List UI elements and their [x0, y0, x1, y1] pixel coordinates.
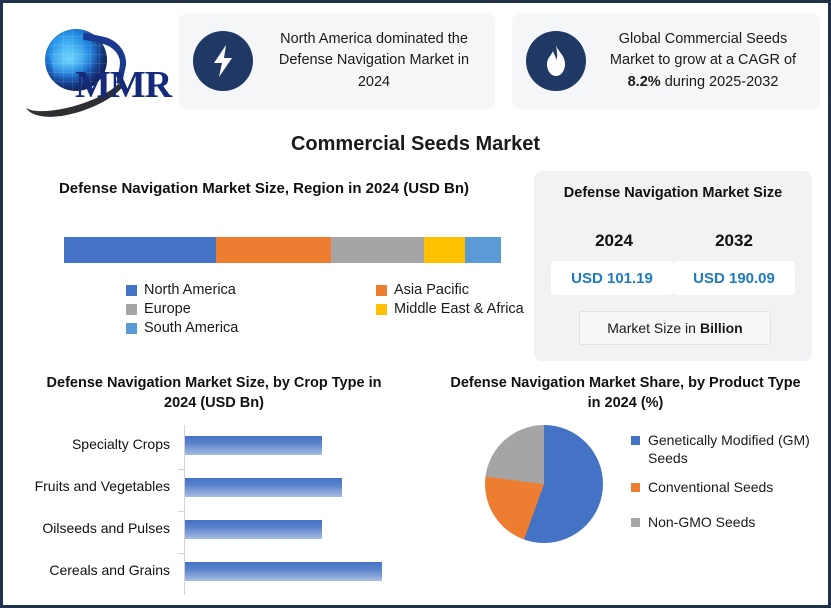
- page-title: Commercial Seeds Market: [3, 133, 828, 156]
- crop-bar: [185, 520, 322, 539]
- market-size-unit-value: Billion: [700, 320, 743, 336]
- crop-type-plot: Specialty CropsFruits and VegetablesOils…: [7, 425, 421, 603]
- market-value-2032: USD 190.09: [673, 261, 795, 295]
- legend-swatch-icon: [631, 483, 640, 492]
- region-legend-label: North America: [144, 282, 236, 298]
- region-stacked-bar: [64, 237, 501, 263]
- market-size-title: Defense Navigation Market Size: [534, 184, 812, 204]
- crop-category-label: Specialty Crops: [72, 436, 170, 452]
- infographic-frame: MMR North America dominated the Defense …: [0, 0, 831, 608]
- product-type-chart-title: Defense Navigation Market Share, by Prod…: [423, 369, 828, 414]
- region-legend-label: Europe: [144, 301, 191, 317]
- region-legend-label: South America: [144, 320, 238, 336]
- market-value-2024: USD 101.19: [551, 261, 673, 295]
- product-legend-item: Non-GMO Seeds: [631, 513, 827, 531]
- crop-bar-row: Oilseeds and Pulses: [7, 511, 421, 553]
- region-segment-europe: [331, 237, 424, 263]
- product-legend-label: Conventional Seeds: [648, 478, 773, 496]
- crop-type-chart: Defense Navigation Market Size, by Crop …: [7, 369, 421, 605]
- legend-swatch-icon: [631, 436, 640, 445]
- mmr-logo: MMR: [15, 19, 167, 111]
- year-label-2024: 2024: [554, 231, 674, 251]
- crop-bar-row: Cereals and Grains: [7, 553, 421, 595]
- region-legend-item: South America: [126, 320, 376, 336]
- crop-bar: [185, 562, 382, 581]
- product-legend-label: Non-GMO Seeds: [648, 513, 755, 531]
- lightning-bolt-icon: [193, 31, 253, 91]
- crop-bar: [185, 478, 342, 497]
- market-size-unit-note: Market Size inBillion: [579, 311, 771, 345]
- brand-name: MMR: [75, 63, 171, 107]
- region-chart-title: Defense Navigation Market Size, Region i…: [49, 179, 479, 199]
- region-legend-label: Middle East & Africa: [394, 301, 524, 317]
- market-size-unit-prefix: Market Size in: [607, 320, 696, 336]
- crop-bar-row: Specialty Crops: [7, 427, 421, 469]
- region-chart: Defense Navigation Market Size, Region i…: [43, 179, 523, 199]
- product-type-chart: Defense Navigation Market Share, by Prod…: [423, 369, 828, 605]
- crop-category-label: Fruits and Vegetables: [35, 478, 170, 494]
- region-segment-north-america: [64, 237, 216, 263]
- badge-north-america-text: North America dominated the Defense Navi…: [265, 29, 495, 92]
- product-type-pie: [485, 425, 603, 543]
- legend-swatch-icon: [631, 518, 640, 527]
- crop-bar-row: Fruits and Vegetables: [7, 469, 421, 511]
- product-legend-item: Conventional Seeds: [631, 478, 827, 496]
- market-size-panel: Defense Navigation Market Size 2024 2032…: [534, 171, 812, 361]
- crop-category-label: Cereals and Grains: [49, 562, 170, 578]
- region-segment-asia-pacific: [216, 237, 331, 263]
- region-segment-south-america: [465, 237, 501, 263]
- crop-category-label: Oilseeds and Pulses: [42, 520, 170, 536]
- year-label-2032: 2032: [674, 231, 794, 251]
- badge-cagr-text-before: Global Commercial Seeds Market to grow a…: [610, 31, 796, 68]
- legend-swatch-icon: [126, 304, 137, 315]
- crop-type-chart-title: Defense Navigation Market Size, by Crop …: [7, 369, 421, 414]
- legend-swatch-icon: [376, 285, 387, 296]
- region-segment-middle-east-africa: [424, 237, 465, 263]
- crop-bar: [185, 436, 322, 455]
- region-legend-item: North America: [126, 282, 376, 298]
- product-legend-item: Genetically Modified (GM) Seeds: [631, 431, 827, 467]
- badge-cagr: Global Commercial Seeds Market to grow a…: [512, 13, 820, 109]
- legend-swatch-icon: [376, 304, 387, 315]
- region-legend-item: Europe: [126, 301, 376, 317]
- product-legend-label: Genetically Modified (GM) Seeds: [648, 431, 827, 467]
- badge-north-america: North America dominated the Defense Navi…: [179, 13, 495, 109]
- badge-cagr-highlight: 8.2%: [628, 74, 661, 90]
- legend-swatch-icon: [126, 323, 137, 334]
- badge-cagr-text: Global Commercial Seeds Market to grow a…: [598, 29, 820, 92]
- region-legend: North AmericaAsia PacificEuropeMiddle Ea…: [126, 282, 546, 336]
- flame-icon: [526, 31, 586, 91]
- region-legend-label: Asia Pacific: [394, 282, 469, 298]
- header: MMR North America dominated the Defense …: [3, 3, 828, 121]
- badge-cagr-text-after: during 2025-2032: [661, 74, 779, 90]
- product-type-legend: Genetically Modified (GM) SeedsConventio…: [631, 431, 827, 542]
- legend-swatch-icon: [126, 285, 137, 296]
